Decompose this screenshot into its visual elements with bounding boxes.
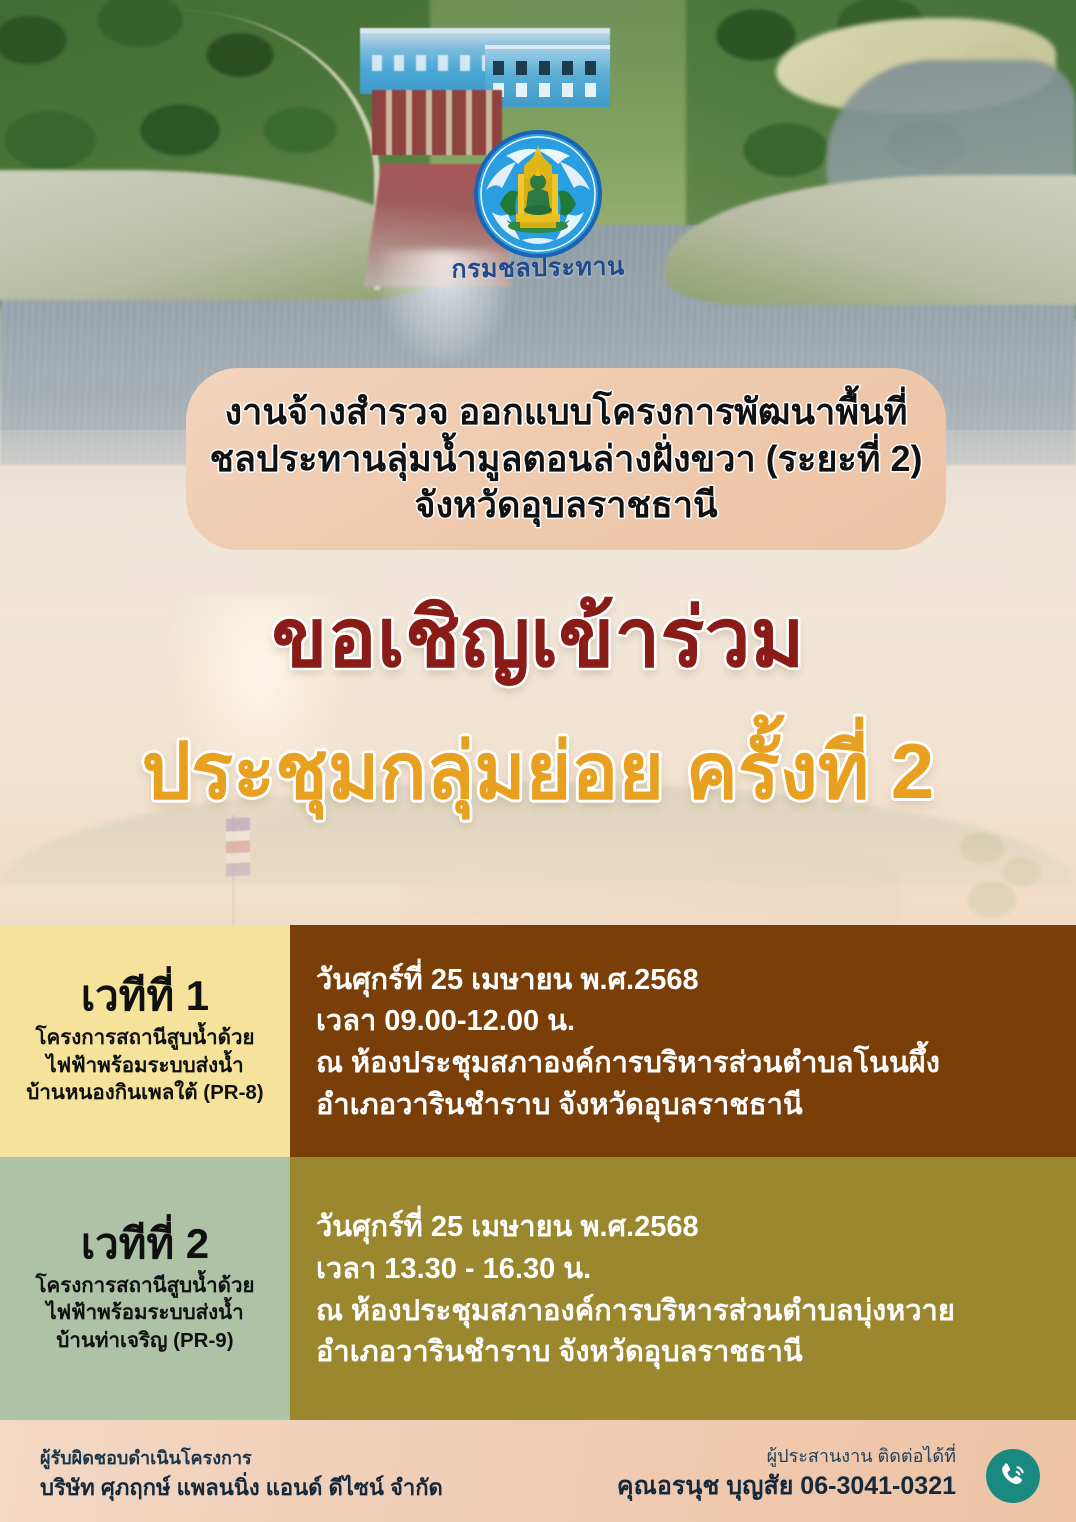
event-2-project-line-1: โครงการสถานีสูบน้ำด้วย [35, 1272, 254, 1299]
event-1-project-line-2: ไฟฟ้าพร้อมระบบส่งน้ำ [26, 1052, 263, 1079]
footer-coordinator-label: ผู้ประสานงาน ติดต่อได้ที่ [436, 1444, 956, 1468]
phone-handset-icon [996, 1459, 1030, 1493]
dam-office-building [485, 45, 610, 107]
event-2-project-line-3: บ้านท่าเจริญ (PR-9) [35, 1327, 254, 1354]
event-row-1: เวทีที่ 1 โครงการสถานีสูบน้ำด้วย ไฟฟ้าพร… [0, 925, 1076, 1157]
event-2-time: เวลา 13.30 - 16.30 น. [316, 1249, 1056, 1291]
headline-invitation: ขอเชิญเข้าร่วม [0, 598, 1076, 680]
royal-irrigation-department-emblem-icon [472, 128, 604, 260]
event-1-details-cell: วันศุกร์ที่ 25 เมษายน พ.ศ.2568 เวลา 09.0… [290, 925, 1076, 1157]
event-2-venue-line-2: อำเภอวารินชำราบ จังหวัดอุบลราชธานี [316, 1332, 1056, 1374]
event-row-2: เวทีที่ 2 โครงการสถานีสูบน้ำด้วย ไฟฟ้าพร… [0, 1157, 1076, 1420]
footer: ผู้รับผิดชอบดำเนินโครงการ บริษัท ศุภฤกษ์… [0, 1420, 1076, 1522]
event-2-venue-line-1: ณ ห้องประชุมสภาองค์การบริหารส่วนตำบลบุ่ง… [316, 1291, 1056, 1333]
event-1-date: วันศุกร์ที่ 25 เมษายน พ.ศ.2568 [316, 960, 1056, 1002]
headline-meeting: ประชุมกลุ่มย่อย ครั้งที่ 2 [0, 732, 1076, 810]
project-title-line-2: ชลประทานลุ่มน้ำมูลตอนล่างฝั่งขวา (ระยะที… [210, 436, 923, 482]
event-1-venue-line-2: อำเภอวารินชำราบ จังหวัดอุบลราชธานี [316, 1085, 1056, 1127]
footer-coordinator-contact[interactable]: คุณอรนุช บุญสัย 06-3041-0321 [436, 1469, 956, 1504]
event-1-project-line-1: โครงการสถานีสูบน้ำด้วย [26, 1024, 263, 1051]
event-1-stage-label: เวทีที่ 1 [81, 973, 209, 1018]
event-2-stage-cell: เวทีที่ 2 โครงการสถานีสูบน้ำด้วย ไฟฟ้าพร… [0, 1157, 290, 1420]
event-1-project-line-3: บ้านหนองกินเพลใต้ (PR-8) [26, 1079, 263, 1106]
phone-icon[interactable] [986, 1449, 1040, 1503]
event-2-stage-label: เวทีที่ 2 [81, 1221, 209, 1266]
poster-root: กรมชลประทาน งานจ้างสำรวจ ออกแบบโครงการพั… [0, 0, 1076, 1522]
event-1-venue-line-1: ณ ห้องประชุมสภาองค์การบริหารส่วนตำบลโนนผ… [316, 1043, 1056, 1085]
project-title-line-1: งานจ้างสำรวจ ออกแบบโครงการพัฒนาพื้นที่ [225, 389, 908, 435]
event-2-project-line-2: ไฟฟ้าพร้อมระบบส่งน้ำ [35, 1299, 254, 1326]
event-panels: เวทีที่ 1 โครงการสถานีสูบน้ำด้วย ไฟฟ้าพร… [0, 925, 1076, 1420]
project-title-line-3: จังหวัดอุบลราชธานี [414, 482, 717, 528]
event-1-time: เวลา 09.00-12.00 น. [316, 1001, 1056, 1043]
emblem-container: กรมชลประทาน [472, 128, 604, 338]
event-2-details-cell: วันศุกร์ที่ 25 เมษายน พ.ศ.2568 เวลา 13.3… [290, 1157, 1076, 1420]
emblem-caption: กรมชลประทาน [448, 246, 629, 289]
footer-coordinator-block: ผู้ประสานงาน ติดต่อได้ที่ คุณอรนุช บุญสั… [436, 1444, 956, 1504]
event-2-date: วันศุกร์ที่ 25 เมษายน พ.ศ.2568 [316, 1207, 1056, 1249]
event-1-stage-cell: เวทีที่ 1 โครงการสถานีสูบน้ำด้วย ไฟฟ้าพร… [0, 925, 290, 1157]
project-title-box: งานจ้างสำรวจ ออกแบบโครงการพัฒนาพื้นที่ ช… [186, 368, 946, 550]
